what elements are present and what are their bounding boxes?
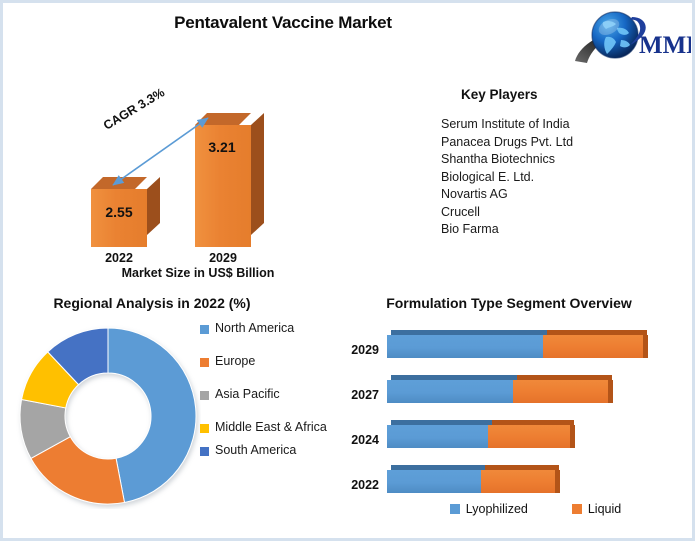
bar-segment-face	[387, 470, 481, 493]
donut-chart-title: Regional Analysis in 2022 (%)	[7, 295, 297, 311]
bar-segment-lyophilized	[387, 420, 488, 448]
legend-item-lyophilized: Lyophilized	[450, 502, 528, 516]
legend-swatch-icon	[200, 424, 209, 433]
bar-category-label: 2029	[333, 343, 379, 357]
legend-label: South America	[215, 443, 296, 458]
bar-segment-face	[513, 380, 608, 403]
bar-segment-face	[387, 380, 513, 403]
donut-svg	[15, 323, 201, 509]
legend-label: Asia Pacific	[215, 387, 280, 402]
bar-segment-face	[481, 470, 555, 493]
bar-chart-legend: Lyophilized Liquid	[393, 502, 678, 516]
bar-segment-end	[643, 335, 648, 358]
donut-slices	[20, 328, 196, 504]
legend-label: North America	[215, 321, 294, 336]
bar-segment-end	[608, 380, 613, 403]
market-size-column-chart: 2.55 2022 3.21 2029 CAGR 3.3% Market	[63, 88, 363, 293]
infographic-frame: Pentavalent Vaccine Market	[0, 0, 695, 541]
bar-segment-face	[387, 335, 543, 358]
list-item: Biological E. Ltd.	[441, 169, 688, 187]
key-players-title: Key Players	[403, 87, 688, 102]
globe-swoosh-icon: MMR	[573, 9, 691, 71]
legend-swatch-icon	[450, 504, 460, 514]
bar-category-label: 2024	[333, 433, 379, 447]
legend-item-europe: Europe	[200, 354, 332, 369]
bar-category-label: 2022	[333, 478, 379, 492]
bar-chart-title: Formulation Type Segment Overview	[333, 295, 685, 311]
bar-segment-liquid	[481, 465, 555, 493]
legend-item-asia-pacific: Asia Pacific	[200, 387, 332, 402]
key-players-list: Serum Institute of India Panacea Drugs P…	[403, 116, 688, 239]
legend-swatch-icon	[200, 391, 209, 400]
bar-segment-face	[543, 335, 643, 358]
donut-slice	[108, 328, 196, 502]
legend-item-liquid: Liquid	[572, 502, 621, 516]
bar-segment-lyophilized	[387, 465, 481, 493]
donut-legend: North America Europe Asia Pacific Middle…	[200, 321, 332, 476]
bar-segment-lyophilized	[387, 330, 543, 358]
legend-label: Lyophilized	[466, 502, 528, 516]
bar-segment-liquid	[513, 375, 608, 403]
bar-segment-liquid	[488, 420, 570, 448]
list-item: Shantha Biotechnics	[441, 151, 688, 169]
mmr-logo: MMR	[573, 9, 691, 71]
page-title: Pentavalent Vaccine Market	[3, 13, 563, 33]
bar-category-label: 2027	[333, 388, 379, 402]
list-item: Serum Institute of India	[441, 116, 688, 134]
bar-segment-end	[555, 470, 560, 493]
legend-label: Liquid	[588, 502, 621, 516]
legend-swatch-icon	[200, 447, 209, 456]
legend-item-north-america: North America	[200, 321, 332, 336]
regional-analysis-chart: Regional Analysis in 2022 (%) North Amer…	[7, 295, 332, 540]
legend-item-south-america: South America	[200, 443, 332, 458]
key-players-panel: Key Players Serum Institute of India Pan…	[403, 87, 688, 239]
legend-swatch-icon	[200, 358, 209, 367]
column-chart-axis-label: Market Size in US$ Billion	[63, 266, 333, 280]
bar-segment-end	[570, 425, 575, 448]
legend-label: Middle East & Africa	[215, 420, 327, 435]
bar-segment-face	[387, 425, 488, 448]
list-item: Novartis AG	[441, 186, 688, 204]
bar-segment-liquid	[543, 330, 643, 358]
legend-swatch-icon	[572, 504, 582, 514]
logo-text: MMR	[639, 32, 691, 59]
list-item: Crucell	[441, 204, 688, 222]
legend-item-middle-east-africa: Middle East & Africa	[200, 420, 332, 435]
legend-swatch-icon	[200, 325, 209, 334]
list-item: Bio Farma	[441, 221, 688, 239]
bar-segment-face	[488, 425, 570, 448]
bar-segment-lyophilized	[387, 375, 513, 403]
list-item: Panacea Drugs Pvt. Ltd	[441, 134, 688, 152]
formulation-type-bar-chart: Formulation Type Segment Overview 2029 2…	[333, 295, 693, 540]
legend-label: Europe	[215, 354, 255, 369]
